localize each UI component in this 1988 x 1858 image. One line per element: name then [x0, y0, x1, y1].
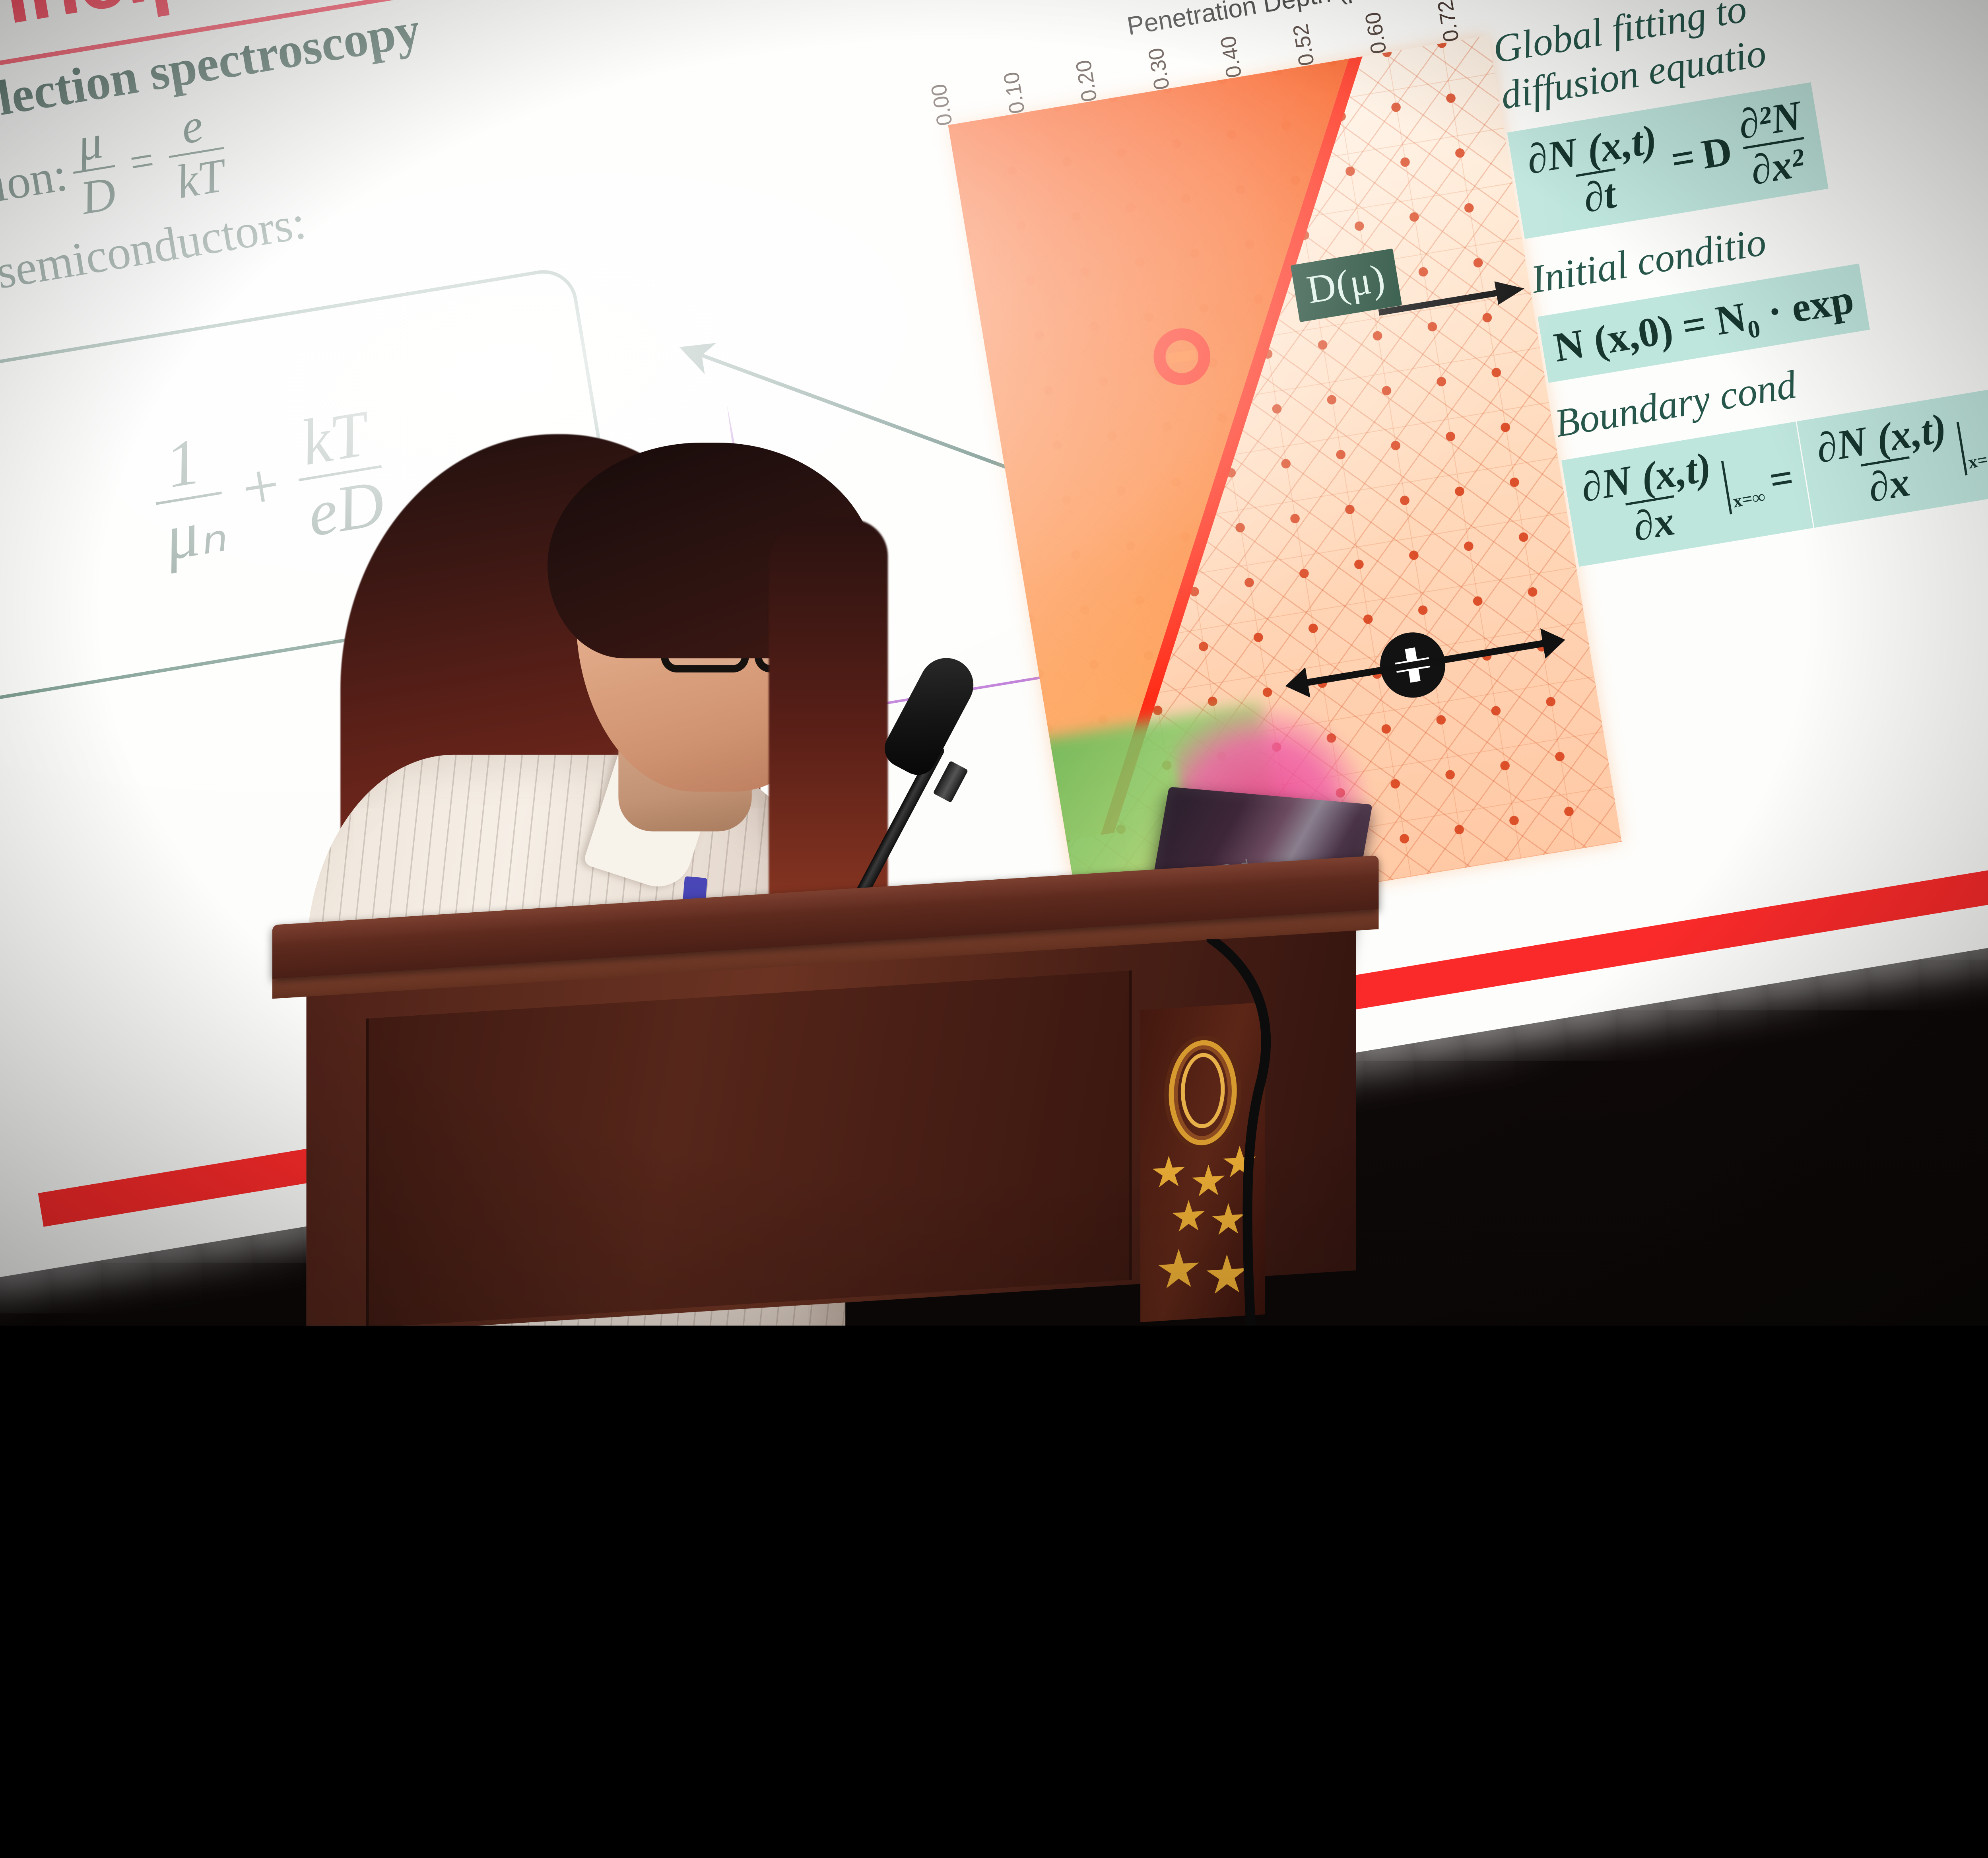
- heatmap-tick-label: 0.20: [1071, 58, 1102, 103]
- heatmap-tick-label: 0.40: [1215, 34, 1246, 80]
- equals-sign: =: [1766, 453, 1797, 504]
- equals-sign: =: [118, 134, 166, 189]
- fraction-denominator: ∂x: [1625, 495, 1681, 548]
- relation-prefix: n relation:: [0, 147, 71, 233]
- vertical-bar-icon: [1721, 461, 1732, 515]
- fraction-numerator: e: [174, 100, 210, 154]
- fraction-denominator: μₙ: [155, 492, 233, 571]
- heatmap-tick-label: 0.00: [926, 82, 957, 127]
- evaluation-bar: x=∞: [1721, 455, 1767, 514]
- heatmap-tick-label: 0.72: [1433, 0, 1464, 44]
- slide-left-column: ent reflection spectroscopy n relation: …: [0, 0, 817, 318]
- heatmap-tick-label: 0.52: [1288, 22, 1319, 68]
- minus-icon: [1168, 350, 1196, 364]
- diffusion-coefficient-symbol: D: [1698, 126, 1736, 179]
- heatmap-tick-label: 0.30: [1143, 46, 1174, 91]
- boundary-fraction: ∂N (x,t) ∂x: [1574, 445, 1726, 556]
- fraction-denominator: ∂x: [1861, 456, 1917, 509]
- equals-sign: =: [1668, 133, 1699, 184]
- boxed-fraction-one-over-mu-n: 1 μₙ: [145, 426, 233, 571]
- diffusion-lhs-fraction: ∂N (x,t) ∂t: [1520, 118, 1672, 228]
- vertical-bar-icon: [1957, 422, 1968, 476]
- microphone-cable: [1175, 939, 1294, 1326]
- photograph-scene: rinciple of Mobility Derivation ent refl…: [0, 0, 1988, 1325]
- evaluation-bar: x=0: [1957, 417, 1988, 476]
- diffusion-rhs-fraction: ∂²N ∂x²: [1732, 94, 1816, 193]
- fraction-numerator: 1: [157, 428, 208, 500]
- evaluation-subscript: x=∞: [1732, 486, 1767, 514]
- heatmap-tick-label: 0.10: [998, 70, 1029, 115]
- relation-fraction-mu-over-D: μ D: [65, 116, 123, 222]
- podium: [272, 925, 1379, 1325]
- boundary-condition-equation-infinity: ∂N (x,t) ∂x x=∞ =: [1561, 422, 1813, 567]
- heatmap-tick-label: 0.60: [1360, 10, 1391, 56]
- podium-front-panel: [366, 970, 1132, 1325]
- fraction-numerator: μ: [70, 117, 109, 171]
- fraction-denominator: ∂t: [1576, 168, 1623, 220]
- fraction-denominator: D: [73, 165, 123, 223]
- boundary-condition-equation-zero: ∂N (x,t) ∂x x=0 =: [1797, 383, 1988, 528]
- fraction-denominator: kT: [169, 147, 232, 206]
- evaluation-subscript: x=0: [1967, 447, 1988, 474]
- fraction-denominator: ∂x²: [1743, 137, 1811, 192]
- boundary-fraction: ∂N (x,t) ∂x: [1809, 406, 1961, 517]
- relation-fraction-e-over-kT: e kT: [161, 98, 232, 207]
